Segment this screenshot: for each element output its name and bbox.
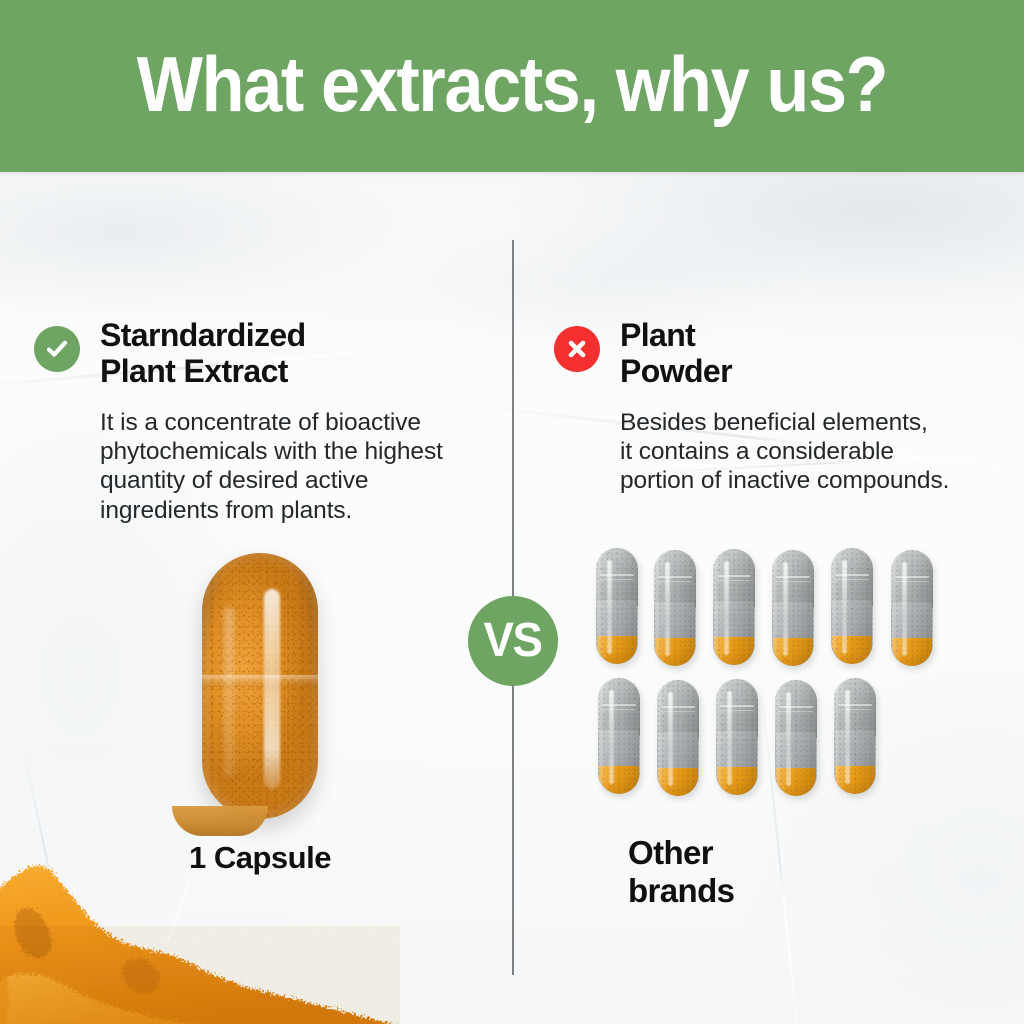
grey-capsule <box>654 550 696 666</box>
right-comparison-column: Plant Powder Besides beneficial elements… <box>554 318 1009 496</box>
grey-capsule <box>713 549 755 665</box>
grey-capsule <box>775 680 817 796</box>
extract-capsule-image <box>202 553 318 819</box>
grey-capsule <box>834 678 876 794</box>
left-comparison-column: Starndardized Plant Extract It is a conc… <box>34 318 494 525</box>
check-circle-icon <box>34 326 80 372</box>
page-title: What extracts, why us? <box>137 45 887 123</box>
right-product-label: Other brands <box>628 834 734 910</box>
grey-capsule <box>716 679 758 795</box>
infographic-page: What extracts, why us? Starndardized Pla… <box>0 0 1024 1024</box>
header-band: What extracts, why us? <box>0 0 1024 172</box>
left-column-body-text: It is a concentrate of bioactive phytoch… <box>100 408 494 526</box>
grey-capsule <box>657 680 699 796</box>
capsule-row <box>596 548 1016 678</box>
grey-capsule <box>772 550 814 666</box>
grey-capsule <box>891 550 933 666</box>
right-column-header: Plant Powder <box>554 318 1009 390</box>
x-circle-icon <box>554 326 600 372</box>
left-column-title: Starndardized Plant Extract <box>100 318 306 390</box>
right-column-title: Plant Powder <box>620 318 732 390</box>
grey-capsule <box>598 678 640 794</box>
vs-badge: VS <box>468 596 558 686</box>
grey-capsule <box>831 548 873 664</box>
grey-capsule <box>596 548 638 664</box>
right-column-body-text: Besides beneficial elements, it contains… <box>620 408 1009 496</box>
left-column-header: Starndardized Plant Extract <box>34 318 494 390</box>
capsule-row <box>596 678 1016 808</box>
other-brands-capsule-grid <box>596 548 1016 808</box>
vs-label: VS <box>484 617 542 665</box>
left-product-label: 1 Capsule <box>34 840 486 876</box>
capsule-rim-light <box>202 553 318 819</box>
